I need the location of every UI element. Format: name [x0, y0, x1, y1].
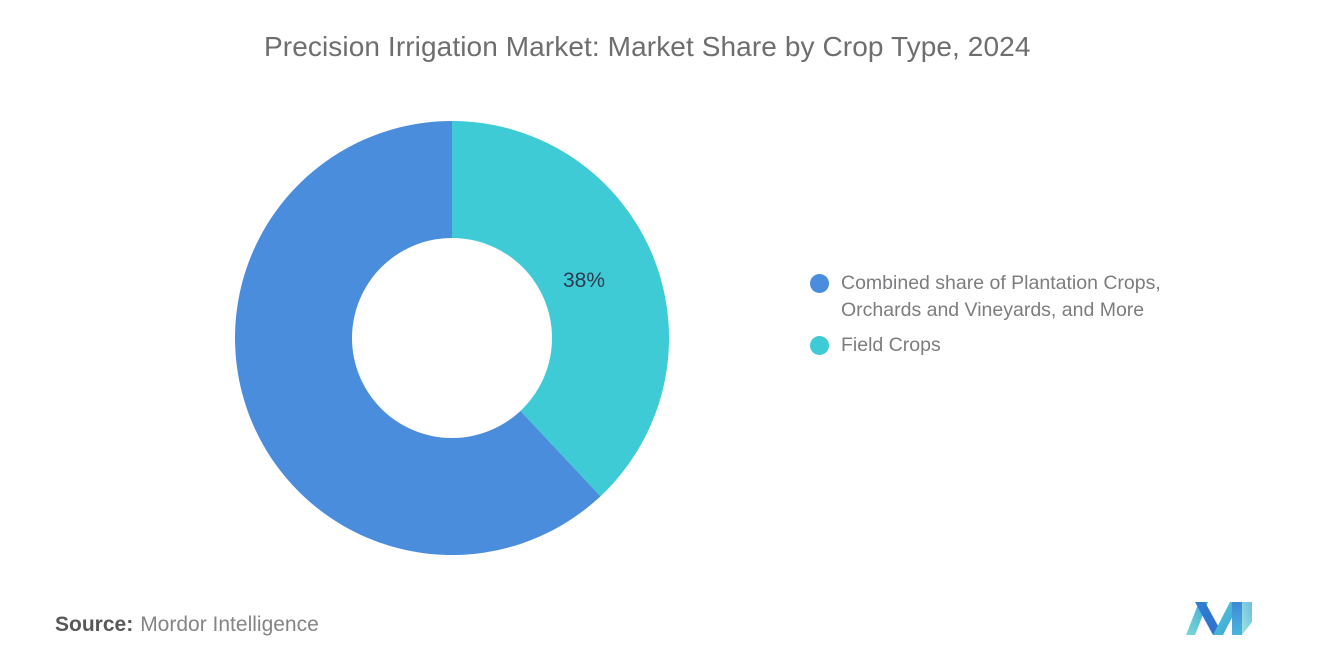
- legend-item-label: Combined share of Plantation Crops, Orch…: [841, 270, 1221, 324]
- legend-item-label: Field Crops: [841, 332, 941, 359]
- source-label: Source:: [55, 613, 133, 636]
- source-name: Mordor Intelligence: [140, 613, 319, 636]
- source-attribution: Source:Mordor Intelligence: [55, 613, 319, 637]
- legend-item-combined-share[interactable]: Combined share of Plantation Crops, Orch…: [810, 270, 1250, 324]
- page-title: Precision Irrigation Market: Market Shar…: [264, 31, 1031, 63]
- legend-color-swatch-blue-icon: [810, 274, 829, 293]
- mordor-intelligence-logo-icon: [1186, 598, 1252, 638]
- slice-data-label-field-crops: 38%: [563, 269, 605, 293]
- donut-center-hole: [352, 238, 552, 438]
- legend-color-swatch-teal-icon: [810, 336, 829, 355]
- donut-chart-svg: [235, 121, 669, 555]
- chart-legend: Combined share of Plantation Crops, Orch…: [810, 270, 1250, 367]
- legend-item-field-crops[interactable]: Field Crops: [810, 332, 1250, 359]
- donut-chart: [235, 121, 669, 555]
